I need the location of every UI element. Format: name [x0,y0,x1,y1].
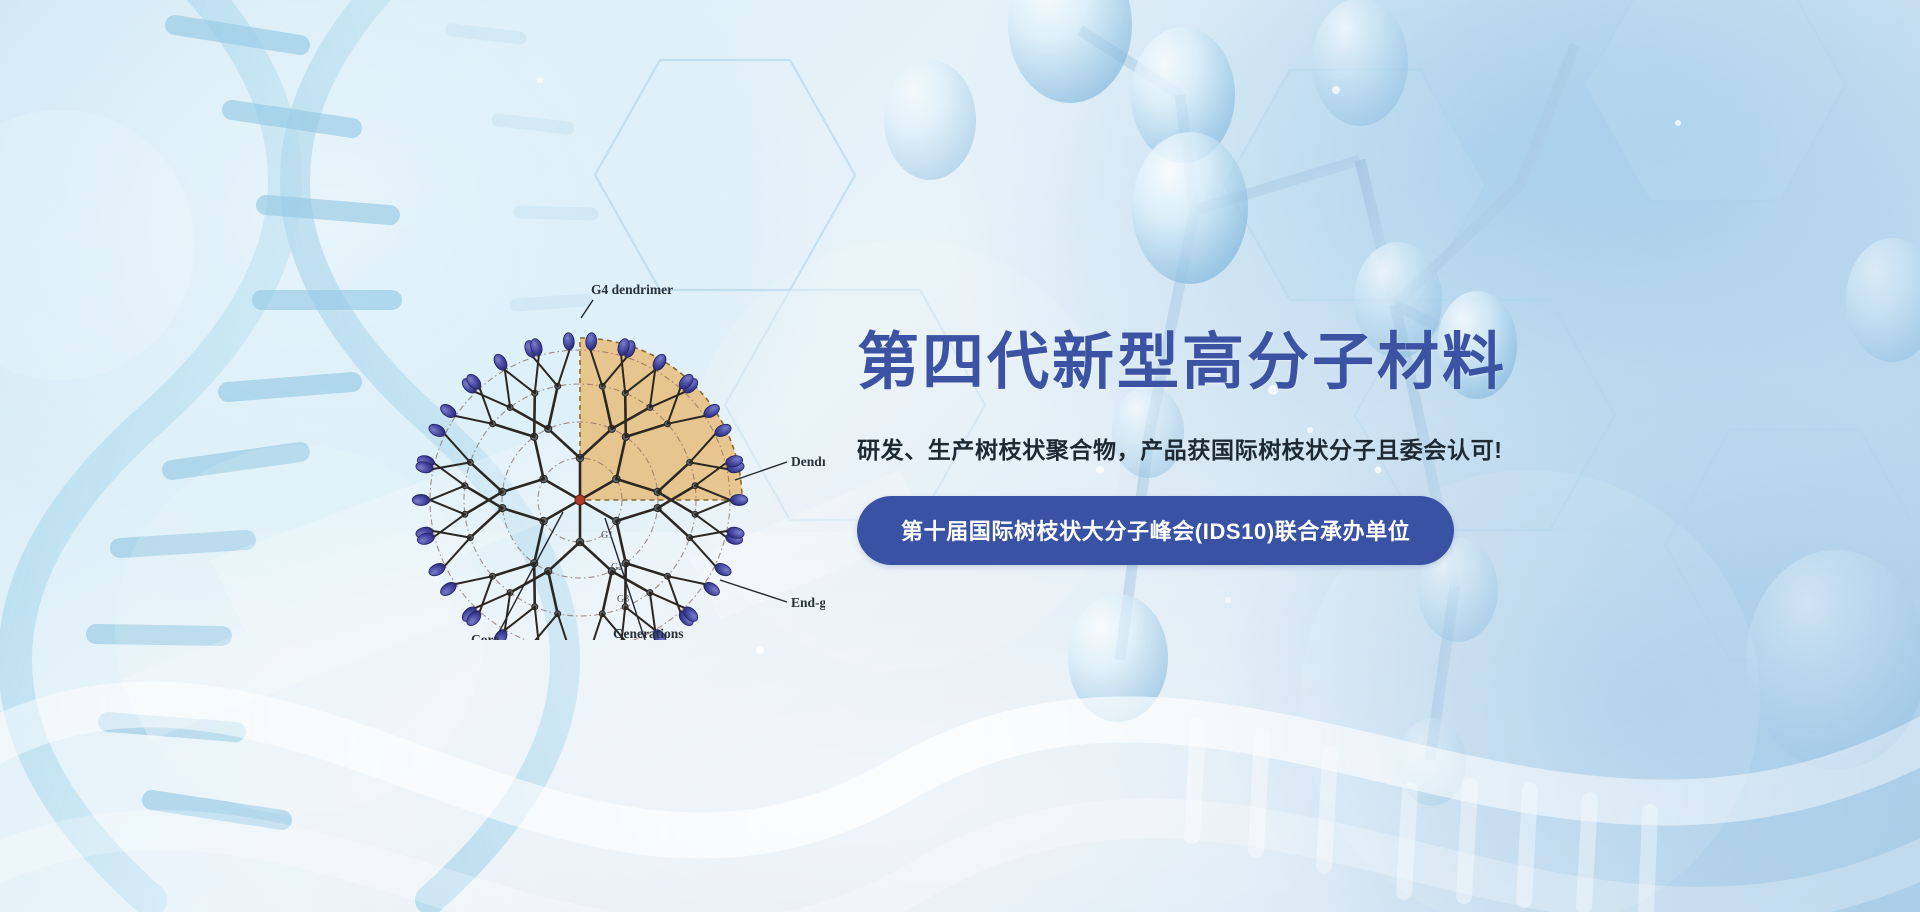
label-g3: G3 [617,594,629,605]
banner-subtitle: 研发、生产树枝状聚合物，产品获国际树枝状分子且委会认可! [857,431,1757,465]
hero-banner: G4 dendrimer Dendron End-groups Core Gen… [0,0,1920,912]
label-g4-dendrimer: G4 dendrimer [591,282,673,297]
label-core: Core [471,632,499,640]
banner-text-block: 第四代新型高分子材料 研发、生产树枝状聚合物，产品获国际树枝状分子且委会认可! … [857,330,1757,565]
label-dendron: Dendron [791,454,825,469]
label-end-groups: End-groups [791,595,825,610]
label-g2: G2 [611,562,623,573]
g4-dendrimer-figure: G4 dendrimer Dendron End-groups Core Gen… [395,250,825,640]
dendrimer-illustration: G4 dendrimer Dendron End-groups Core Gen… [395,250,825,640]
core-node [575,495,585,505]
page-title: 第四代新型高分子材料 [857,330,1757,397]
label-g1: G1 [601,530,613,541]
label-generations: Generations [613,626,684,640]
summit-cta-button[interactable]: 第十届国际树枝状大分子峰会(IDS10)联合承办单位 [857,496,1454,565]
banner-content: G4 dendrimer Dendron End-groups Core Gen… [0,0,1920,912]
